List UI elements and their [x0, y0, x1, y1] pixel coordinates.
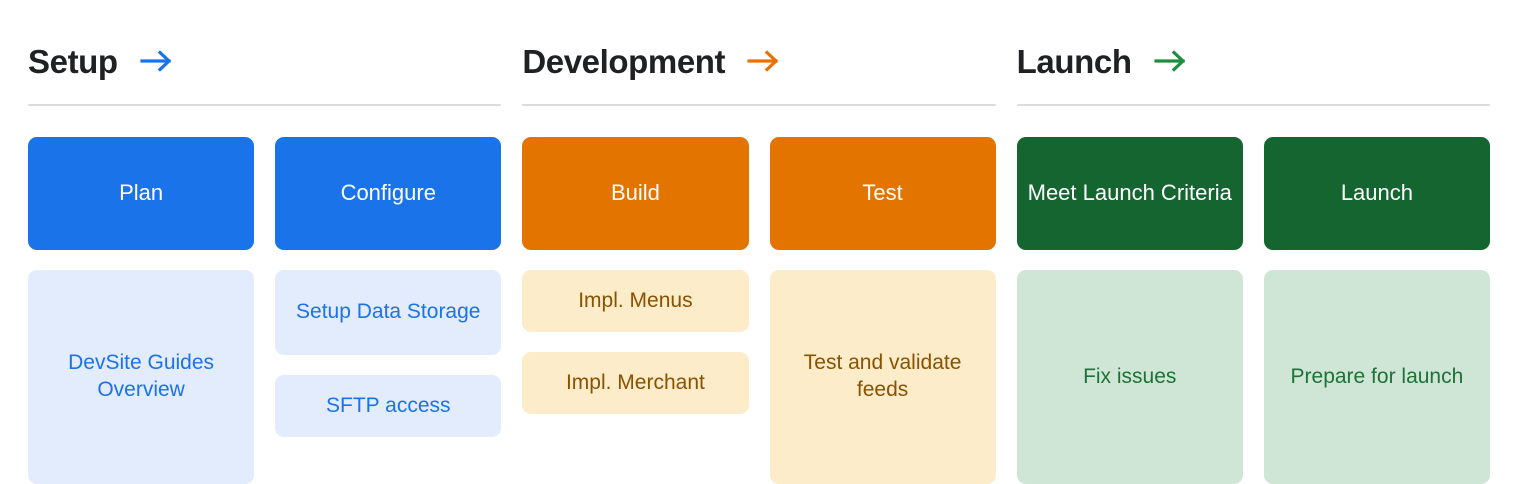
- group-columns-setup: Plan DevSite Guides Overview Configure S…: [28, 137, 501, 484]
- arrow-right-icon: [747, 48, 781, 74]
- group-launch: Launch Meet Launch Criteria Fix issues L…: [1017, 0, 1490, 484]
- card-fix-issues[interactable]: Fix issues: [1017, 270, 1243, 484]
- card-test[interactable]: Test: [770, 137, 996, 250]
- group-title-launch: Launch: [1017, 45, 1132, 78]
- card-configure[interactable]: Configure: [275, 137, 501, 250]
- column-plan: Plan DevSite Guides Overview: [28, 137, 254, 484]
- column-meet-launch-criteria: Meet Launch Criteria Fix issues: [1017, 137, 1243, 484]
- group-columns-launch: Meet Launch Criteria Fix issues Launch P…: [1017, 137, 1490, 484]
- card-meet-launch-criteria[interactable]: Meet Launch Criteria: [1017, 137, 1243, 250]
- card-build[interactable]: Build: [522, 137, 748, 250]
- group-title-setup: Setup: [28, 45, 118, 78]
- card-test-and-validate-feeds[interactable]: Test and validate feeds: [770, 270, 996, 484]
- card-prepare-for-launch[interactable]: Prepare for launch: [1264, 270, 1490, 484]
- column-configure: Configure Setup Data Storage SFTP access: [275, 137, 501, 484]
- group-columns-development: Build Impl. Menus Impl. Merchant Test Te…: [522, 137, 995, 484]
- card-devsite-guides-overview[interactable]: DevSite Guides Overview: [28, 270, 254, 484]
- column-launch: Launch Prepare for launch: [1264, 137, 1490, 484]
- card-sftp-access[interactable]: SFTP access: [275, 375, 501, 437]
- column-build: Build Impl. Menus Impl. Merchant: [522, 137, 748, 484]
- group-header-launch: Launch: [1017, 0, 1490, 104]
- arrow-right-icon: [140, 48, 174, 74]
- group-title-development: Development: [522, 45, 725, 78]
- card-impl-merchant[interactable]: Impl. Merchant: [522, 352, 748, 414]
- arrow-right-icon: [1154, 48, 1188, 74]
- group-divider-development: [522, 104, 995, 106]
- roadmap-board: Setup Plan DevSite Guides Overview Confi…: [0, 0, 1518, 484]
- card-setup-data-storage[interactable]: Setup Data Storage: [275, 270, 501, 355]
- group-header-development: Development: [522, 0, 995, 104]
- group-divider-setup: [28, 104, 501, 106]
- group-setup: Setup Plan DevSite Guides Overview Confi…: [28, 0, 501, 484]
- group-header-setup: Setup: [28, 0, 501, 104]
- column-test: Test Test and validate feeds: [770, 137, 996, 484]
- card-impl-menus[interactable]: Impl. Menus: [522, 270, 748, 332]
- group-development: Development Build Impl. Menus Impl. Merc…: [522, 0, 995, 484]
- card-launch[interactable]: Launch: [1264, 137, 1490, 250]
- card-plan[interactable]: Plan: [28, 137, 254, 250]
- group-divider-launch: [1017, 104, 1490, 106]
